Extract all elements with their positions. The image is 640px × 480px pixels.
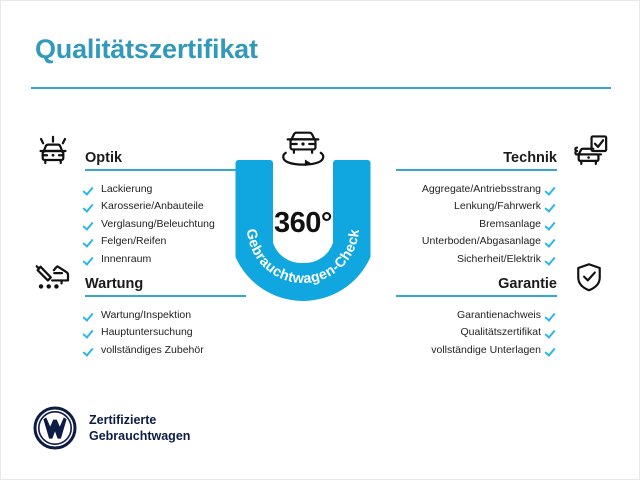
list-item: Lackierung <box>85 180 246 198</box>
list-item-label: vollständiges Zubehör <box>101 345 204 356</box>
checklist-optik: Lackierung Karosserie/Anbauteile Verglas… <box>31 180 246 268</box>
check-icon <box>547 201 557 211</box>
check-icon <box>547 236 557 246</box>
page-title: Qualitätszertifikat <box>35 34 258 65</box>
section-divider-wartung <box>85 295 246 297</box>
section-title-technik: Technik <box>396 150 557 169</box>
section-title-optik: Optik <box>85 150 246 169</box>
footer-brand: Zertifizierte Gebrauchtwagen <box>33 406 190 450</box>
car-front-shine-icon <box>31 131 75 171</box>
qualitaetszertifikat-page: Qualitätszertifikat Optik <box>0 0 640 480</box>
section-header-wartung: Wartung <box>31 257 246 297</box>
list-item-label: Hauptuntersuchung <box>101 327 193 338</box>
check-icon <box>547 184 557 194</box>
list-item-label: Lackierung <box>101 184 152 195</box>
section-wartung: Wartung Wartung/Inspektion Hauptuntersuc… <box>31 257 246 359</box>
check-icon <box>547 310 557 320</box>
list-item: Wartung/Inspektion <box>85 306 246 324</box>
check-icon <box>85 345 95 355</box>
list-item: Unterboden/Abgasanlage <box>396 233 557 251</box>
list-item: vollständige Unterlagen <box>396 341 557 359</box>
section-divider-technik <box>396 169 557 171</box>
section-title-wrap-wartung: Wartung <box>75 276 246 297</box>
list-item: vollständiges Zubehör <box>85 341 246 359</box>
list-item-label: Felgen/Reifen <box>101 236 166 247</box>
section-title-wrap-optik: Optik <box>75 150 246 171</box>
list-item: Lenkung/Fahrwerk <box>396 198 557 216</box>
section-header-optik: Optik <box>31 131 246 171</box>
section-header-garantie: Garantie <box>396 257 611 297</box>
section-divider-garantie <box>396 295 557 297</box>
list-item: Qualitätszertifikat <box>396 324 557 342</box>
list-item: Hauptuntersuchung <box>85 324 246 342</box>
list-item-label: vollständige Unterlagen <box>431 345 541 356</box>
section-title-wartung: Wartung <box>85 276 246 295</box>
section-title-wrap-garantie: Garantie <box>396 276 567 297</box>
list-item: Aggregate/Antriebsstrang <box>396 180 557 198</box>
oil-can-car-icon <box>31 257 75 297</box>
check-icon <box>547 327 557 337</box>
check-icon <box>85 201 95 211</box>
list-item: Karosserie/Anbauteile <box>85 198 246 216</box>
section-technik: Technik Aggregate/Antriebsstrang Lenkung… <box>396 131 611 268</box>
footer-line-1: Zertifizierte <box>89 412 190 429</box>
list-item-label: Aggregate/Antriebsstrang <box>422 184 541 195</box>
list-item: Garantienachweis <box>396 306 557 324</box>
check-icon <box>85 310 95 320</box>
shield-check-icon <box>567 257 611 297</box>
check-icon <box>547 345 557 355</box>
section-garantie: Garantie Garantienachweis Qualitätszerti… <box>396 257 611 359</box>
list-item-label: Garantienachweis <box>457 310 541 321</box>
badge-degrees: 360° <box>229 207 377 240</box>
footer-brand-text: Zertifizierte Gebrauchtwagen <box>89 412 190 445</box>
section-optik: Optik Lackierung Karosserie/Anbauteile V… <box>31 131 246 268</box>
check-icon <box>85 327 95 337</box>
list-item-label: Verglasung/Beleuchtung <box>101 219 215 230</box>
check-icon <box>85 184 95 194</box>
header-divider <box>31 87 611 89</box>
list-item-label: Qualitätszertifikat <box>460 327 541 338</box>
list-item-label: Unterboden/Abgasanlage <box>422 236 541 247</box>
section-title-garantie: Garantie <box>396 276 557 295</box>
list-item-label: Bremsanlage <box>479 219 541 230</box>
check-icon <box>85 236 95 246</box>
section-header-technik: Technik <box>396 131 611 171</box>
checklist-technik: Aggregate/Antriebsstrang Lenkung/Fahrwer… <box>396 180 611 268</box>
car-rotation-icon <box>273 125 333 171</box>
list-item: Verglasung/Beleuchtung <box>85 215 246 233</box>
check-icon <box>547 219 557 229</box>
section-title-wrap-technik: Technik <box>396 150 567 171</box>
checklist-wartung: Wartung/Inspektion Hauptuntersuchung vol… <box>31 306 246 359</box>
list-item-label: Lenkung/Fahrwerk <box>454 201 541 212</box>
car-lift-checkbox-icon <box>567 131 611 171</box>
check-icon <box>85 219 95 229</box>
volkswagen-logo <box>33 406 77 450</box>
footer-line-2: Gebrauchtwagen <box>89 428 190 445</box>
list-item: Felgen/Reifen <box>85 233 246 251</box>
list-item: Bremsanlage <box>396 215 557 233</box>
list-item-label: Karosserie/Anbauteile <box>101 201 204 212</box>
section-divider-optik <box>85 169 246 171</box>
list-item-label: Wartung/Inspektion <box>101 310 191 321</box>
checklist-garantie: Garantienachweis Qualitätszertifikat vol… <box>396 306 611 359</box>
